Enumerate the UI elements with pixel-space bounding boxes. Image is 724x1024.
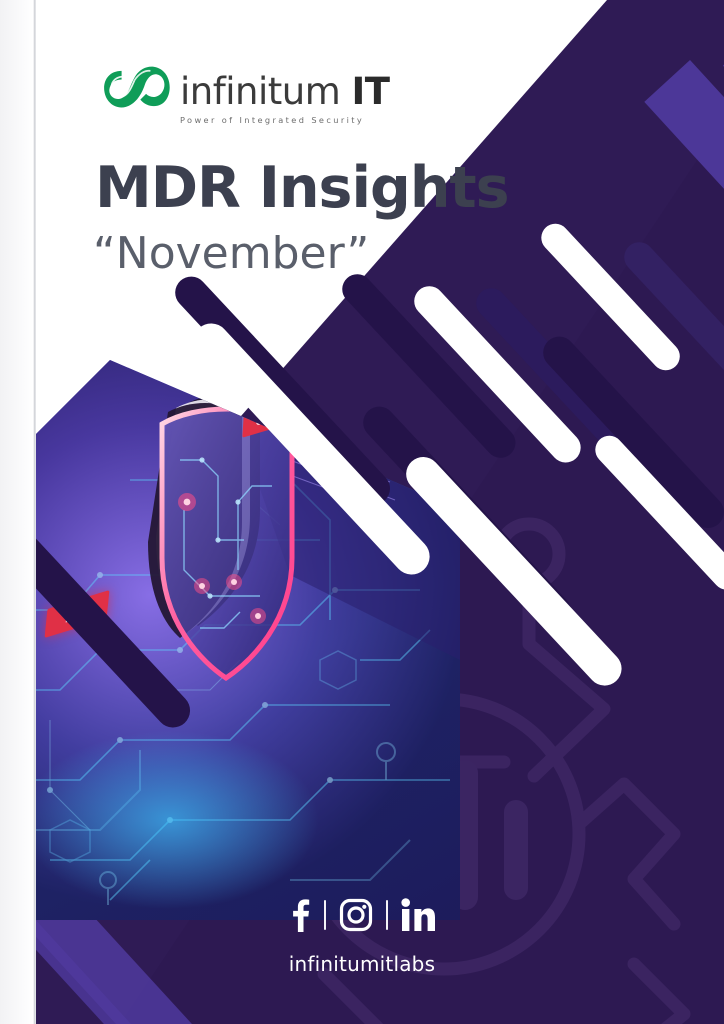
footer: infinitumitlabs — [0, 892, 724, 976]
social-separator-2 — [386, 900, 388, 930]
linkedin-icon[interactable] — [401, 898, 435, 932]
page-subtitle: “November” — [93, 228, 369, 279]
social-handle: infinitumitlabs — [0, 952, 724, 976]
social-links — [0, 892, 724, 938]
facebook-glyph — [289, 898, 311, 932]
instagram-icon[interactable] — [339, 898, 373, 932]
social-separator-1 — [324, 900, 326, 930]
page-spine-shadow — [0, 0, 33, 1024]
brand-name: infinitum IT — [180, 73, 390, 110]
brand-logo: infinitum IT Power of Integrated Securit… — [100, 62, 390, 125]
linkedin-glyph — [401, 898, 435, 932]
brand-name-light: infinitum — [180, 70, 340, 113]
page-spine-line — [33, 0, 36, 1024]
report-cover-page: 02 — [0, 0, 724, 1024]
instagram-glyph — [339, 898, 373, 932]
infinitum-cloud-infinity-logo-icon — [100, 62, 172, 120]
facebook-icon[interactable] — [289, 898, 311, 932]
brand-tagline: Power of Integrated Security — [180, 115, 390, 125]
page-title: MDR Insights — [95, 155, 509, 221]
brand-name-bold: IT — [352, 70, 390, 113]
